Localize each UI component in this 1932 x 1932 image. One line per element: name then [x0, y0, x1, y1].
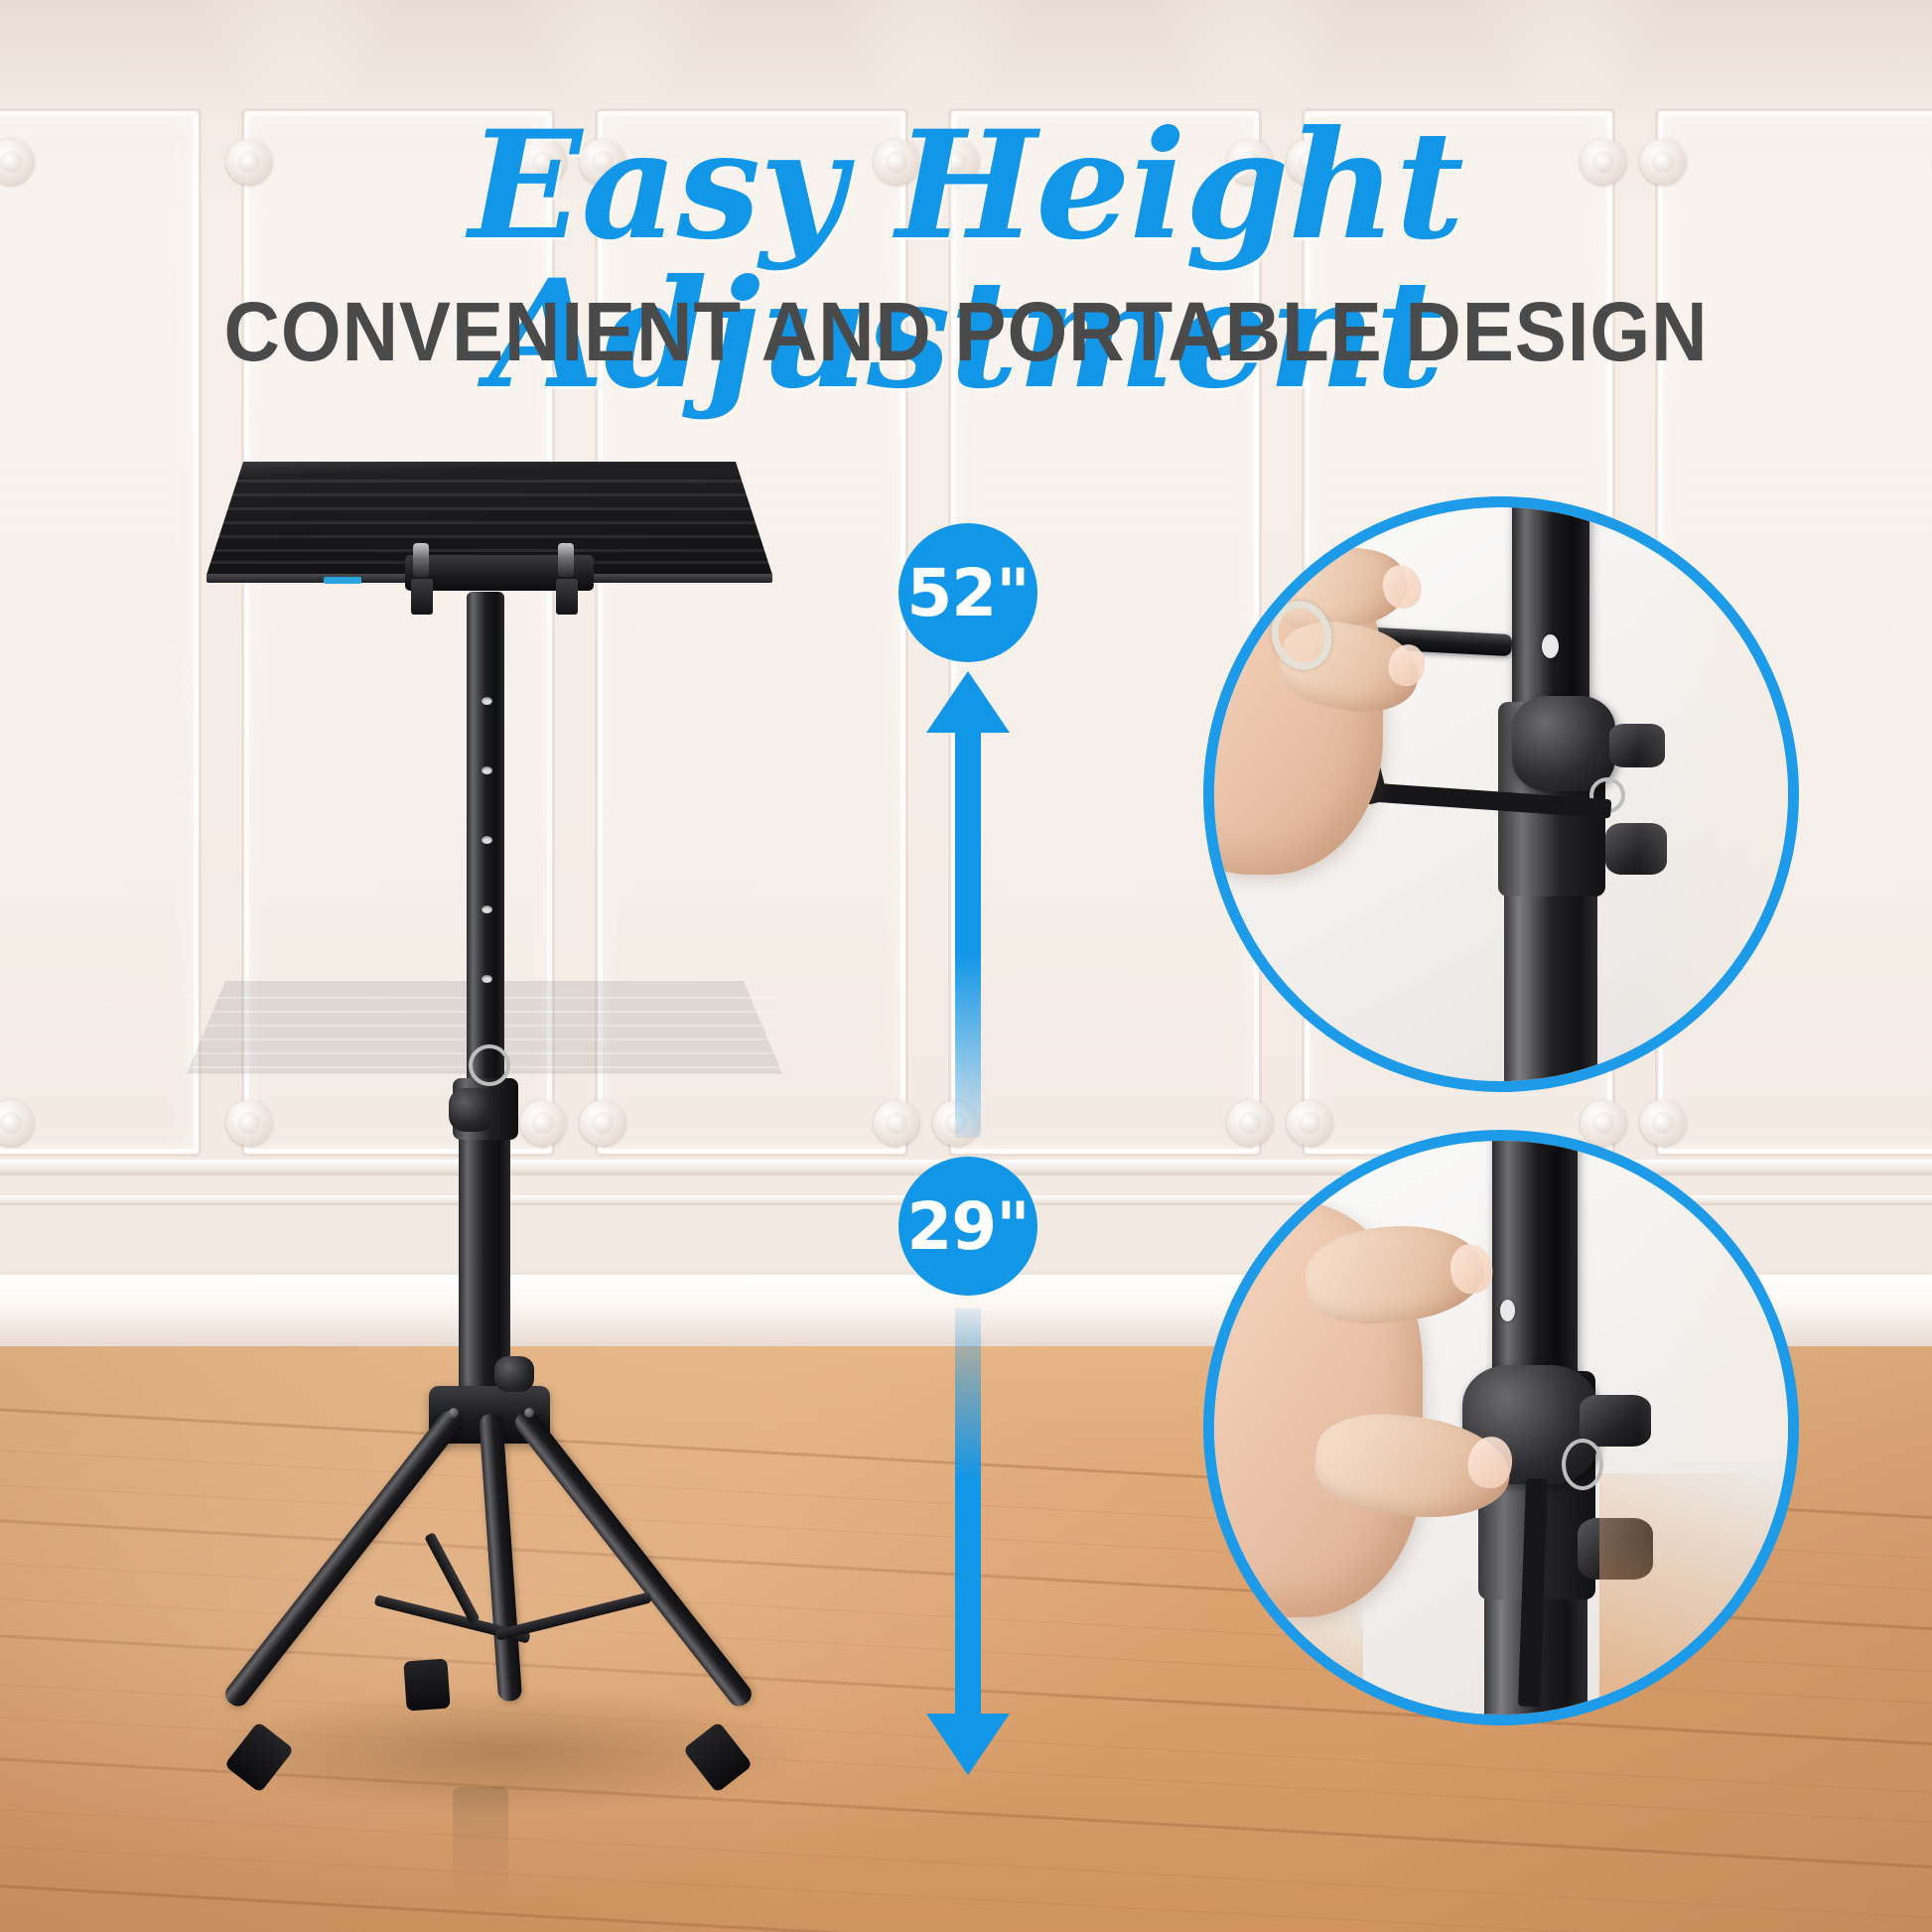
detail-pole-hole [1500, 1300, 1515, 1321]
product-floor-reflection [453, 1787, 508, 1896]
tripod-foot [403, 1659, 450, 1712]
detail-pole-hole [1542, 634, 1559, 658]
thumb-screw-stem [556, 579, 578, 615]
height-badge-max-label: 52" [906, 555, 1029, 631]
tripod-screw [524, 1408, 534, 1418]
thumb-screw-stem [411, 579, 433, 615]
detail-pole-upper [1492, 1130, 1578, 1389]
detail-circle-tightening-knob [1203, 1130, 1799, 1725]
pin-retainer-ring [469, 1044, 510, 1086]
pole-adjustment-hole [482, 836, 492, 844]
molding-rosette [1581, 1100, 1626, 1146]
product-marketing-image: 52" 29" [0, 0, 1932, 1932]
detail-retainer-ring [1562, 1439, 1603, 1490]
detail-circle-locking-pin [1203, 496, 1799, 1092]
detail-clamp-knob [1512, 696, 1615, 791]
height-badge-min-label: 29" [906, 1188, 1029, 1265]
tripod-lock-knob [494, 1356, 534, 1392]
clamp-knob [449, 1088, 494, 1132]
molding-rosette [1287, 1100, 1332, 1146]
height-badge-min: 29" [898, 1157, 1037, 1296]
pole-adjustment-hole [482, 905, 492, 913]
molding-rosette [1227, 1100, 1273, 1146]
thumb-screw [558, 543, 574, 577]
thumb-screw [413, 543, 429, 577]
blue-accent-sticker [324, 577, 361, 584]
pole-adjustment-hole [482, 766, 492, 774]
pole-adjustment-hole [482, 697, 492, 705]
telescoping-center-pole [467, 592, 504, 1108]
up-arrow-icon [913, 671, 1023, 1138]
page-subheadline: CONVENIENT AND PORTABLE DESIGN [68, 290, 1864, 373]
pole-adjustment-hole [482, 975, 492, 983]
down-arrow-icon [913, 1309, 1023, 1775]
height-badge-max: 52" [898, 523, 1037, 662]
molding-rosette [1640, 1100, 1686, 1146]
vented-projector-tray [207, 462, 772, 611]
tripod-screw [449, 1408, 459, 1418]
